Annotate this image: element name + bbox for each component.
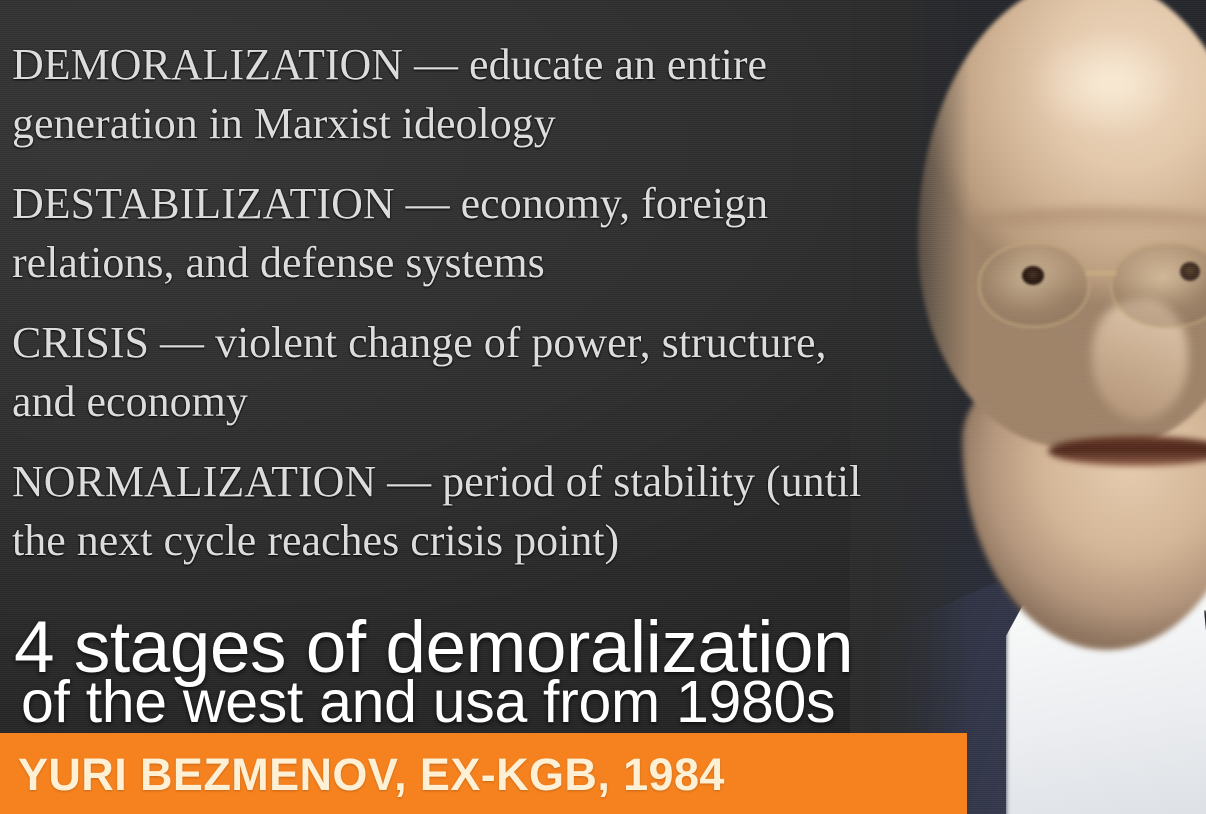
eyeglass-bridge <box>1085 270 1117 276</box>
eyeglass-lens-left <box>978 242 1090 328</box>
attribution-text: YURI BEZMENOV, EX-KGB, 1984 <box>18 749 725 801</box>
stage-item-demoralization: DEMORALIZATION — educate an entire gener… <box>12 36 892 153</box>
forehead-highlight <box>1000 8 1206 158</box>
caption-subline: of the west and usa from 1980s <box>21 673 835 732</box>
meme-image: DEMORALIZATION — educate an entire gener… <box>0 0 1206 814</box>
eye-left <box>1022 266 1044 285</box>
stage-item-crisis: CRISIS — violent change of power, struct… <box>12 314 892 431</box>
attribution-banner: YURI BEZMENOV, EX-KGB, 1984 <box>0 733 967 814</box>
eye-right <box>1180 262 1200 281</box>
stage-item-normalization: NORMALIZATION — period of stability (unt… <box>12 453 892 570</box>
stages-list: DEMORALIZATION — educate an entire gener… <box>12 36 892 570</box>
stage-item-destabilization: DESTABILIZATION — economy, foreign relat… <box>12 175 892 292</box>
